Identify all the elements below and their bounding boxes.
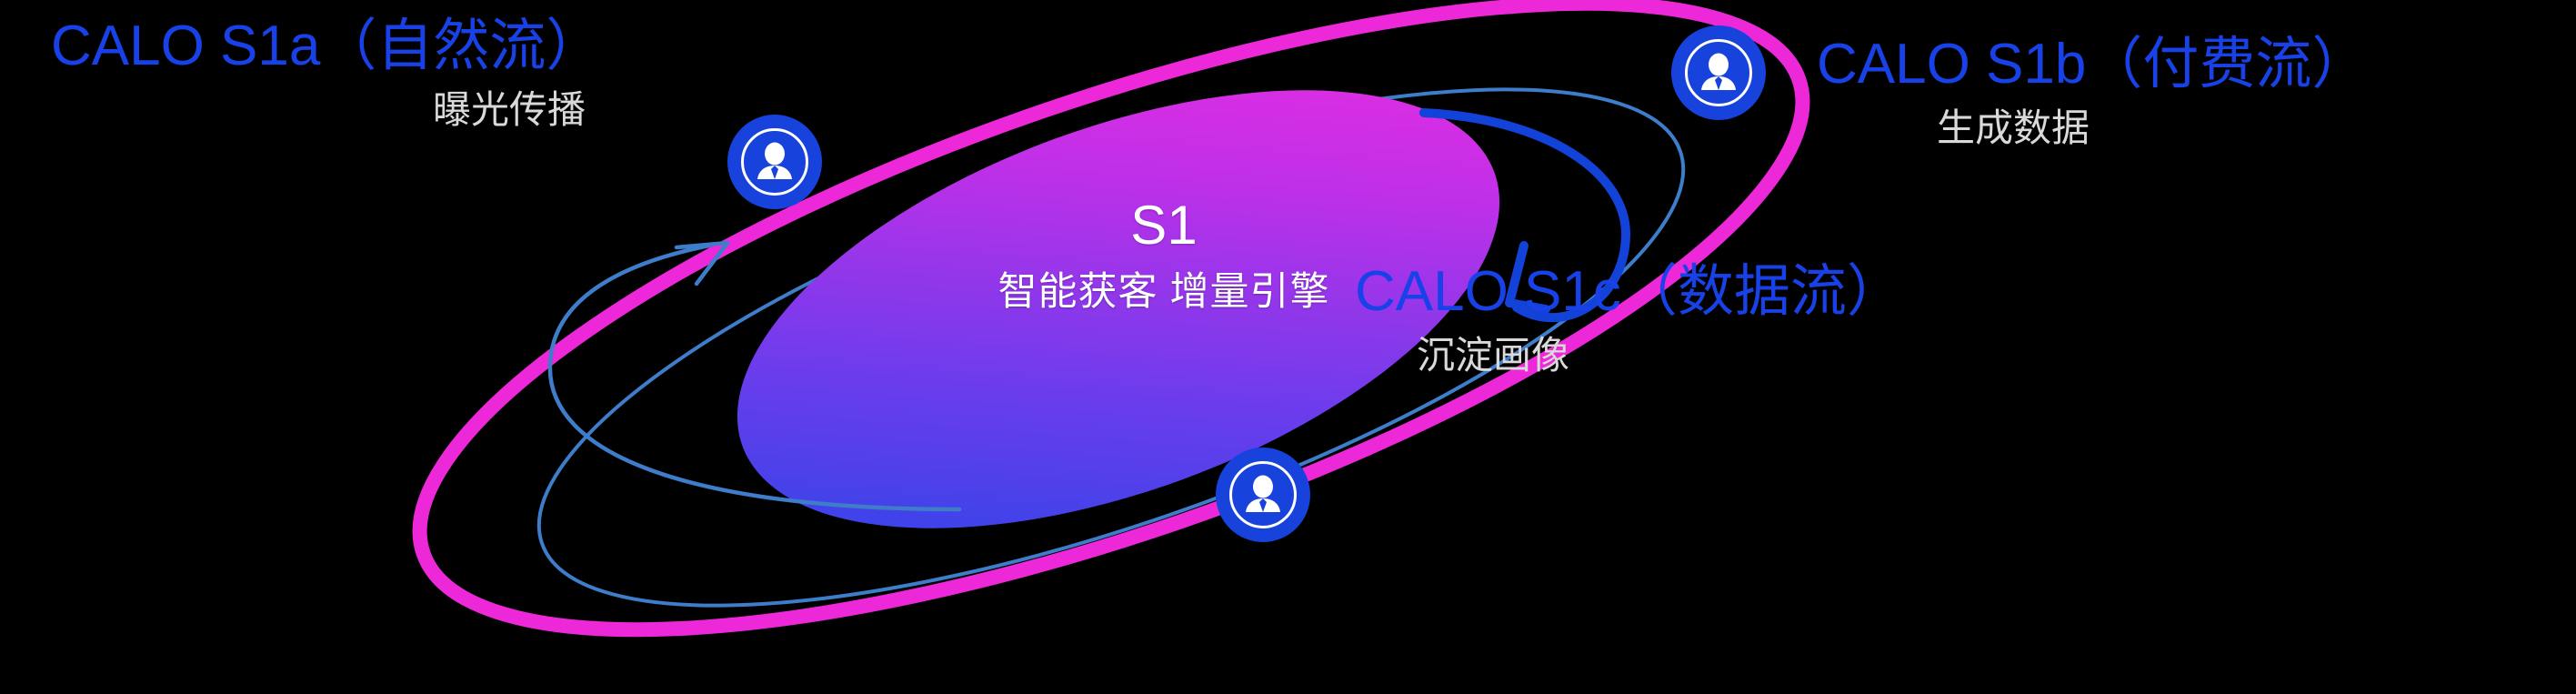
node-badge-s1a[interactable] bbox=[727, 115, 822, 209]
flow-title-s1b: CALO S1b（付费流） bbox=[1817, 35, 2368, 94]
flow-label-s1b: CALO S1b（付费流） 生成数据 bbox=[1817, 35, 2368, 148]
user-person-icon bbox=[751, 138, 798, 186]
flow-title-s1c: CALO S1c（数据流） bbox=[1355, 262, 1903, 321]
flow-sublabel-s1b: 生成数据 bbox=[1937, 108, 2368, 148]
node-badge-s1c[interactable] bbox=[1216, 448, 1310, 542]
user-person-icon bbox=[1695, 49, 1742, 96]
flow-label-s1c: CALO S1c（数据流） 沉淀画像 bbox=[1355, 262, 1903, 376]
flow-sublabel-s1a: 曝光传播 bbox=[433, 90, 602, 130]
diagram-canvas: S1 智能获客 增量引擎 CALO S1a（自然流） 曝光传 bbox=[0, 0, 2576, 694]
flow-sublabel-s1c: 沉淀画像 bbox=[1417, 336, 1903, 376]
flow-title-s1a: CALO S1a（自然流） bbox=[51, 16, 602, 75]
node-badge-s1b[interactable] bbox=[1671, 25, 1766, 120]
user-person-icon bbox=[1239, 471, 1287, 518]
flow-label-s1a: CALO S1a（自然流） 曝光传播 bbox=[51, 16, 602, 130]
